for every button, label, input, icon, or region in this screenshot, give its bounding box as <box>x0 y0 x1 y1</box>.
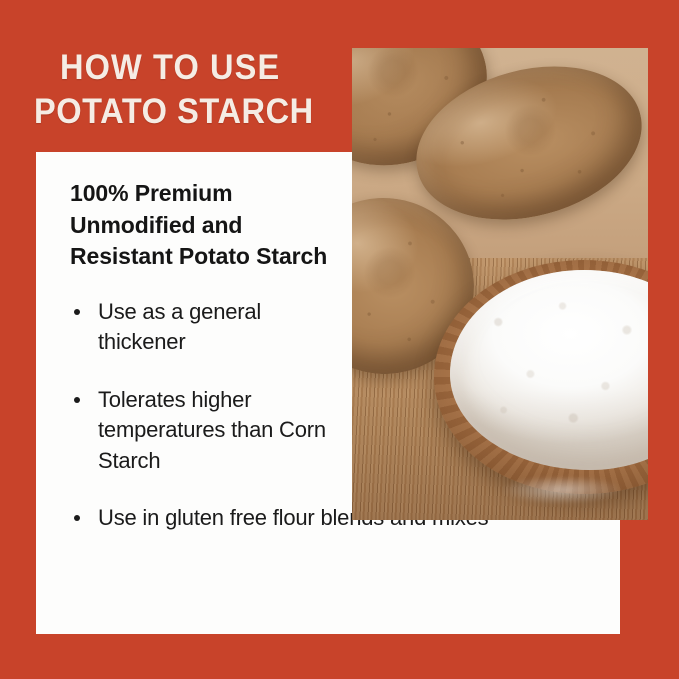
title-line-1: HOW TO USE <box>60 46 330 90</box>
list-item: Tolerates higher temperatures than Corn … <box>70 385 348 477</box>
list-item-label: Tolerates higher temperatures than Corn … <box>98 387 326 473</box>
bullet-dot-icon <box>74 309 80 315</box>
bullet-dot-icon <box>74 397 80 403</box>
copy-block: 100% Premium Unmodified and Resistant Po… <box>70 178 350 534</box>
infographic-card: HOW TO USE POTATO STARCH 100% Premium Un… <box>0 0 679 679</box>
page-title: HOW TO USE POTATO STARCH <box>60 46 350 134</box>
list-item: Use as a general thickener <box>70 297 348 358</box>
bullet-dot-icon <box>74 515 80 521</box>
photo-content <box>352 48 648 520</box>
product-description: 100% Premium Unmodified and Resistant Po… <box>70 178 350 273</box>
photo-vignette <box>352 48 648 520</box>
list-item-label: Use as a general thickener <box>98 299 261 355</box>
potatoes-and-starch-bowl-photo <box>352 48 648 520</box>
title-line-2: POTATO STARCH <box>34 90 328 134</box>
usage-list: Use as a general thickener Tolerates hig… <box>70 297 350 534</box>
